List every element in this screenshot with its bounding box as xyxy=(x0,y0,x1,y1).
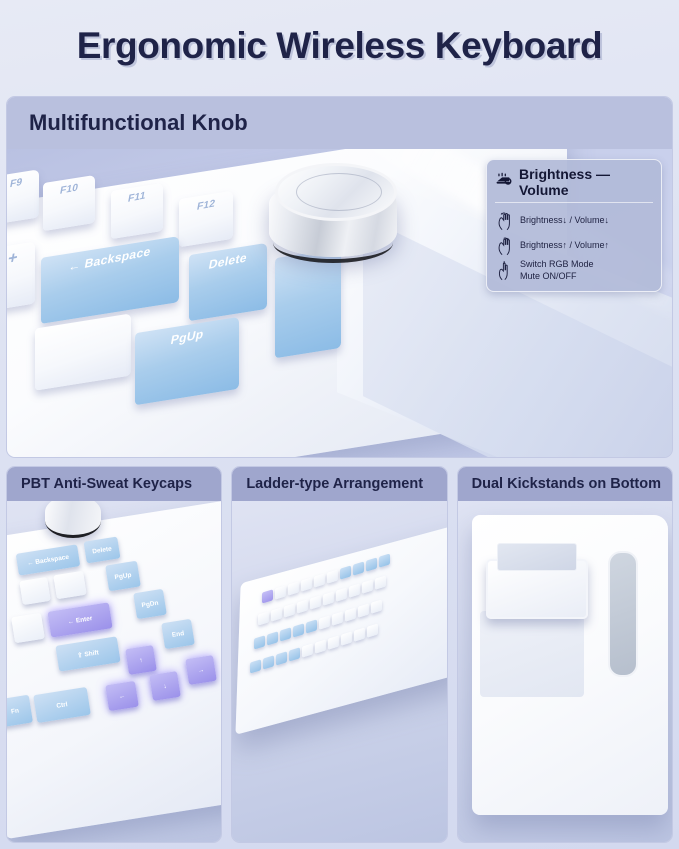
p1-keycap-blank-c xyxy=(11,613,45,643)
legend-row-press-text: Switch RGB Mode Mute ON/OFF xyxy=(520,259,594,282)
feature-panel-keycaps: PBT Anti-Sweat Keycaps ← Backspace Delet… xyxy=(6,466,222,843)
legend-title-row: Brightness — Volume xyxy=(495,166,653,203)
legend-rgb-text: Switch RGB Mode xyxy=(520,259,594,269)
legend-row-press: Switch RGB Mode Mute ON/OFF xyxy=(495,258,653,283)
keyboard-underside xyxy=(472,515,668,815)
page-header: Ergonomic Wireless Keyboard xyxy=(0,0,679,92)
panel-3-image xyxy=(458,501,672,842)
legend-row-down-text: Brightness↓ / Volume↓ xyxy=(520,215,609,226)
hero-panel: Multifunctional Knob F9 F10 F11 F12 + ← … xyxy=(6,96,673,458)
knob-inner-circle xyxy=(296,173,382,211)
rotate-left-hand-icon xyxy=(495,210,514,232)
knob-light-icon xyxy=(495,171,514,193)
p1-keycap-arrow-right: → xyxy=(185,655,217,685)
underside-recess xyxy=(480,611,584,697)
hero-heading: Multifunctional Knob xyxy=(7,97,672,149)
hero-product-image: F9 F10 F11 F12 + ← Backspace Delete PgUp xyxy=(7,149,672,458)
keycap-f9: F9 xyxy=(7,169,39,224)
knob-rubber-ring xyxy=(273,223,393,263)
kickstand-foot[interactable] xyxy=(486,559,588,619)
p1-keycap-arrow-down: ↓ xyxy=(149,671,181,701)
rotate-right-hand-icon xyxy=(495,235,514,257)
keycap-plus: + xyxy=(7,242,35,311)
legend-title-text: Brightness — Volume xyxy=(519,166,653,198)
anti-slip-pad xyxy=(608,551,638,677)
keycap-f10: F10 xyxy=(43,175,95,231)
legend-row-down: Brightness↓ / Volume↓ xyxy=(495,208,653,233)
p1-keycap-pgup: PgUp xyxy=(105,561,141,592)
feature-panel-ladder: Ladder-type Arrangement xyxy=(231,466,447,843)
panel-1-heading: PBT Anti-Sweat Keycaps xyxy=(7,467,221,501)
keyboard-angled-view xyxy=(236,521,447,735)
keycap-delete: Delete xyxy=(189,243,267,321)
legend-row-up: Brightness↑ / Volume↑ xyxy=(495,233,653,258)
kickstand-foot-flap xyxy=(497,543,577,571)
legend-row-up-text: Brightness↑ / Volume↑ xyxy=(520,240,609,251)
panel-1-image: ← Backspace Delete PgUp PgDn ← Enter ⇧ S… xyxy=(7,501,221,842)
panel-3-heading: Dual Kickstands on Bottom xyxy=(458,467,672,501)
knob-top-face xyxy=(275,163,397,221)
p1-keycap-arrow-left: ← xyxy=(105,681,139,711)
p1-keycap-blank-a xyxy=(19,577,50,605)
press-finger-icon xyxy=(495,260,514,282)
feature-panel-kickstands: Dual Kickstands on Bottom xyxy=(457,466,673,843)
panel-2-image xyxy=(232,501,446,842)
knob-legend: Brightness — Volume Brightness↓ / Volume… xyxy=(486,159,662,292)
legend-mute-text: Mute ON/OFF xyxy=(520,271,577,281)
p1-keycap-arrow-up: ↑ xyxy=(125,645,157,675)
keycap-f12: F12 xyxy=(179,191,233,248)
feature-panels: PBT Anti-Sweat Keycaps ← Backspace Delet… xyxy=(6,466,673,843)
page-title: Ergonomic Wireless Keyboard xyxy=(77,25,603,67)
p1-keycap-end: End xyxy=(161,619,195,649)
panel-2-heading: Ladder-type Arrangement xyxy=(232,467,446,501)
multifunction-knob[interactable] xyxy=(269,163,397,267)
p1-keycap-fn: Fn xyxy=(7,695,33,728)
keycap-f11: F11 xyxy=(111,183,163,239)
p1-keycap-blank-b xyxy=(53,571,86,599)
p1-keycap-pgdn: PgDn xyxy=(133,589,167,619)
panel-1-knob-icon xyxy=(45,501,101,538)
